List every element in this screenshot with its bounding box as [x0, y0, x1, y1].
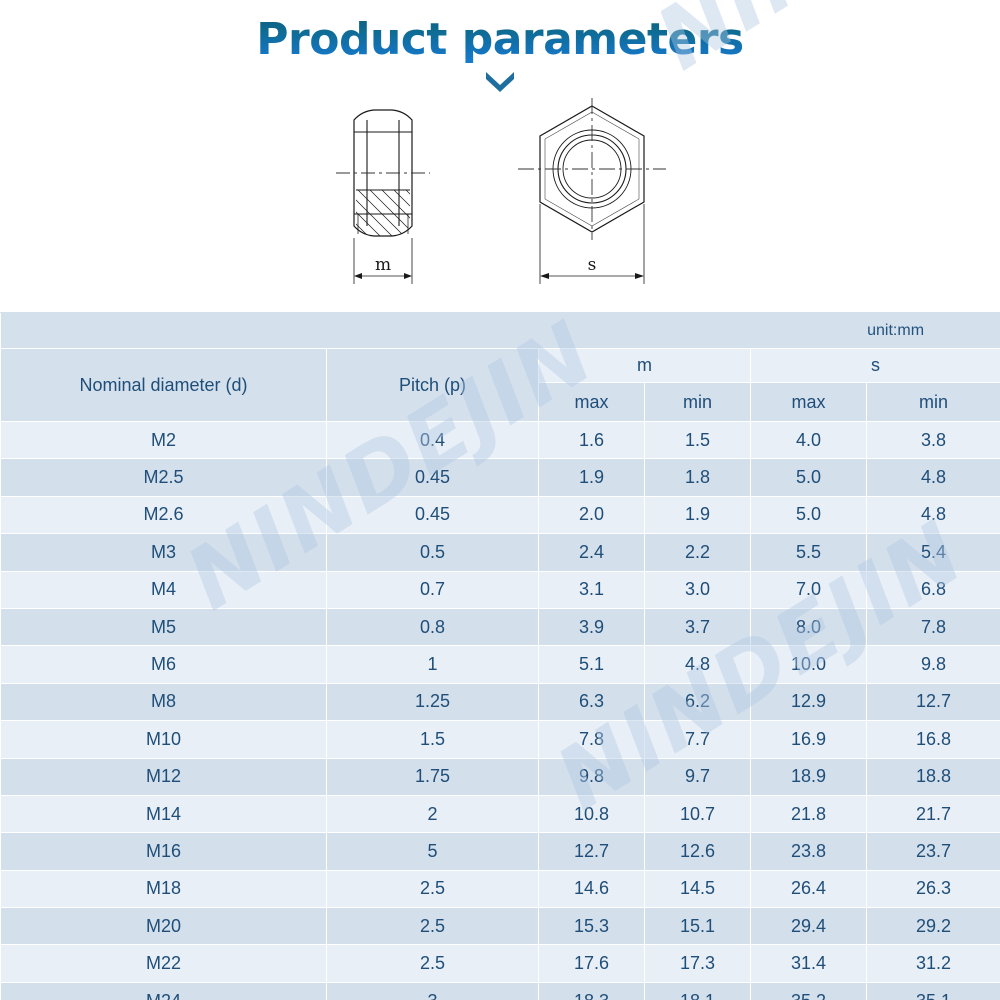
- cell-m-max: 1.6: [539, 422, 645, 459]
- cell-m-min: 15.1: [645, 908, 751, 945]
- table-row: M615.14.810.09.8: [1, 646, 1000, 683]
- cell-s-min: 9.8: [867, 646, 1000, 683]
- col-header-s-max: max: [751, 383, 867, 422]
- cell-m-min: 12.6: [645, 833, 751, 870]
- cell-m-min: 1.8: [645, 459, 751, 496]
- cell-pitch: 1.75: [327, 758, 539, 795]
- cell-nominal-diameter: M2: [1, 422, 327, 459]
- parameter-table-container: unit:mm Nominal diameter (d) Pitch (p) m…: [0, 312, 1000, 1000]
- cell-m-max: 10.8: [539, 795, 645, 832]
- cell-s-min: 7.8: [867, 608, 1000, 645]
- cell-m-max: 14.6: [539, 870, 645, 907]
- technical-drawings: m: [330, 98, 700, 288]
- cell-m-min: 4.8: [645, 646, 751, 683]
- cell-nominal-diameter: M12: [1, 758, 327, 795]
- cell-s-min: 3.8: [867, 422, 1000, 459]
- cell-pitch: 2.5: [327, 908, 539, 945]
- cell-s-max: 29.4: [751, 908, 867, 945]
- cell-pitch: 1: [327, 646, 539, 683]
- cell-pitch: 0.8: [327, 608, 539, 645]
- unit-label: unit:mm: [1, 313, 1000, 349]
- cell-nominal-diameter: M14: [1, 795, 327, 832]
- cell-s-max: 10.0: [751, 646, 867, 683]
- page-title: Product parameters: [256, 14, 743, 66]
- cell-pitch: 0.4: [327, 422, 539, 459]
- cell-nominal-diameter: M2.6: [1, 496, 327, 533]
- cell-s-max: 21.8: [751, 795, 867, 832]
- cell-s-min: 26.3: [867, 870, 1000, 907]
- col-group-header-m: m: [539, 349, 751, 383]
- table-row: M16512.712.623.823.7: [1, 833, 1000, 870]
- cell-s-min: 31.2: [867, 945, 1000, 982]
- cell-s-min: 23.7: [867, 833, 1000, 870]
- col-header-nominal-diameter: Nominal diameter (d): [1, 349, 327, 422]
- cell-m-max: 12.7: [539, 833, 645, 870]
- cell-s-max: 26.4: [751, 870, 867, 907]
- cell-m-min: 14.5: [645, 870, 751, 907]
- cell-s-min: 4.8: [867, 459, 1000, 496]
- cell-m-max: 3.9: [539, 608, 645, 645]
- chevron-down-icon: [483, 68, 517, 92]
- table-row: M182.514.614.526.426.3: [1, 870, 1000, 907]
- cell-nominal-diameter: M10: [1, 721, 327, 758]
- cell-pitch: 2.5: [327, 870, 539, 907]
- unit-row: unit:mm: [1, 313, 1000, 349]
- col-header-pitch: Pitch (p): [327, 349, 539, 422]
- cell-m-min: 7.7: [645, 721, 751, 758]
- cell-pitch: 0.45: [327, 496, 539, 533]
- cell-m-max: 2.4: [539, 534, 645, 571]
- cell-nominal-diameter: M6: [1, 646, 327, 683]
- table-body: M20.41.61.54.03.8M2.50.451.91.85.04.8M2.…: [1, 422, 1000, 1000]
- table-row: M20.41.61.54.03.8: [1, 422, 1000, 459]
- cell-m-min: 10.7: [645, 795, 751, 832]
- cell-m-max: 7.8: [539, 721, 645, 758]
- cell-pitch: 2.5: [327, 945, 539, 982]
- dimension-label-m: m: [375, 255, 391, 275]
- col-group-header-s: s: [751, 349, 1000, 383]
- title-block: Product parameters: [0, 14, 1000, 92]
- cell-pitch: 0.5: [327, 534, 539, 571]
- cell-s-max: 4.0: [751, 422, 867, 459]
- table-row: M222.517.617.331.431.2: [1, 945, 1000, 982]
- cell-nominal-diameter: M8: [1, 683, 327, 720]
- cell-nominal-diameter: M4: [1, 571, 327, 608]
- header-row-group: Nominal diameter (d) Pitch (p) m s: [1, 349, 1000, 383]
- cell-s-max: 5.0: [751, 496, 867, 533]
- cell-nominal-diameter: M20: [1, 908, 327, 945]
- cell-s-min: 5.4: [867, 534, 1000, 571]
- cell-m-max: 17.6: [539, 945, 645, 982]
- col-header-m-min: min: [645, 383, 751, 422]
- table-row: M14210.810.721.821.7: [1, 795, 1000, 832]
- table-row: M50.83.93.78.07.8: [1, 608, 1000, 645]
- cell-s-min: 6.8: [867, 571, 1000, 608]
- table-head: unit:mm Nominal diameter (d) Pitch (p) m…: [1, 313, 1000, 422]
- cell-s-max: 8.0: [751, 608, 867, 645]
- cell-s-min: 16.8: [867, 721, 1000, 758]
- cell-s-max: 16.9: [751, 721, 867, 758]
- cell-m-max: 5.1: [539, 646, 645, 683]
- nut-drawing-svg: m: [330, 98, 700, 288]
- cell-s-max: 7.0: [751, 571, 867, 608]
- table-row: M24318.318.135.235.1: [1, 982, 1000, 1000]
- cell-s-max: 5.5: [751, 534, 867, 571]
- cell-m-min: 1.9: [645, 496, 751, 533]
- cell-nominal-diameter: M16: [1, 833, 327, 870]
- cell-m-min: 17.3: [645, 945, 751, 982]
- cell-m-min: 3.7: [645, 608, 751, 645]
- cell-pitch: 3: [327, 982, 539, 1000]
- table-row: M101.57.87.716.916.8: [1, 721, 1000, 758]
- dimension-label-s: s: [588, 255, 597, 275]
- cell-m-min: 6.2: [645, 683, 751, 720]
- cell-pitch: 1.25: [327, 683, 539, 720]
- cell-m-max: 15.3: [539, 908, 645, 945]
- cell-s-max: 18.9: [751, 758, 867, 795]
- cell-nominal-diameter: M5: [1, 608, 327, 645]
- table-row: M202.515.315.129.429.2: [1, 908, 1000, 945]
- cell-m-max: 18.3: [539, 982, 645, 1000]
- table-row: M40.73.13.07.06.8: [1, 571, 1000, 608]
- col-header-m-max: max: [539, 383, 645, 422]
- table-row: M2.50.451.91.85.04.8: [1, 459, 1000, 496]
- cell-s-min: 29.2: [867, 908, 1000, 945]
- cell-pitch: 2: [327, 795, 539, 832]
- cell-s-max: 5.0: [751, 459, 867, 496]
- cell-m-min: 9.7: [645, 758, 751, 795]
- cell-nominal-diameter: M18: [1, 870, 327, 907]
- cell-s-max: 35.2: [751, 982, 867, 1000]
- cell-s-min: 18.8: [867, 758, 1000, 795]
- cell-m-min: 2.2: [645, 534, 751, 571]
- table-row: M81.256.36.212.912.7: [1, 683, 1000, 720]
- cell-m-max: 3.1: [539, 571, 645, 608]
- col-header-s-min: min: [867, 383, 1000, 422]
- cell-nominal-diameter: M2.5: [1, 459, 327, 496]
- cell-s-min: 21.7: [867, 795, 1000, 832]
- cell-nominal-diameter: M22: [1, 945, 327, 982]
- cell-m-min: 3.0: [645, 571, 751, 608]
- table-row: M2.60.452.01.95.04.8: [1, 496, 1000, 533]
- cell-s-max: 31.4: [751, 945, 867, 982]
- cell-m-max: 2.0: [539, 496, 645, 533]
- cell-m-max: 9.8: [539, 758, 645, 795]
- cell-pitch: 0.45: [327, 459, 539, 496]
- cell-s-min: 12.7: [867, 683, 1000, 720]
- cell-s-max: 12.9: [751, 683, 867, 720]
- cell-m-max: 1.9: [539, 459, 645, 496]
- hex-nut-side-view: m: [330, 110, 432, 284]
- cell-m-min: 18.1: [645, 982, 751, 1000]
- table-row: M30.52.42.25.55.4: [1, 534, 1000, 571]
- cell-nominal-diameter: M3: [1, 534, 327, 571]
- hex-nut-top-view: s: [518, 98, 666, 284]
- cell-pitch: 5: [327, 833, 539, 870]
- cell-s-min: 4.8: [867, 496, 1000, 533]
- cell-s-min: 35.1: [867, 982, 1000, 1000]
- cell-pitch: 1.5: [327, 721, 539, 758]
- cell-pitch: 0.7: [327, 571, 539, 608]
- product-parameters-page: Product parameters: [0, 0, 1000, 1000]
- cell-s-max: 23.8: [751, 833, 867, 870]
- cell-m-min: 1.5: [645, 422, 751, 459]
- cell-m-max: 6.3: [539, 683, 645, 720]
- cell-nominal-diameter: M24: [1, 982, 327, 1000]
- parameter-table: unit:mm Nominal diameter (d) Pitch (p) m…: [0, 312, 1000, 1000]
- table-row: M121.759.89.718.918.8: [1, 758, 1000, 795]
